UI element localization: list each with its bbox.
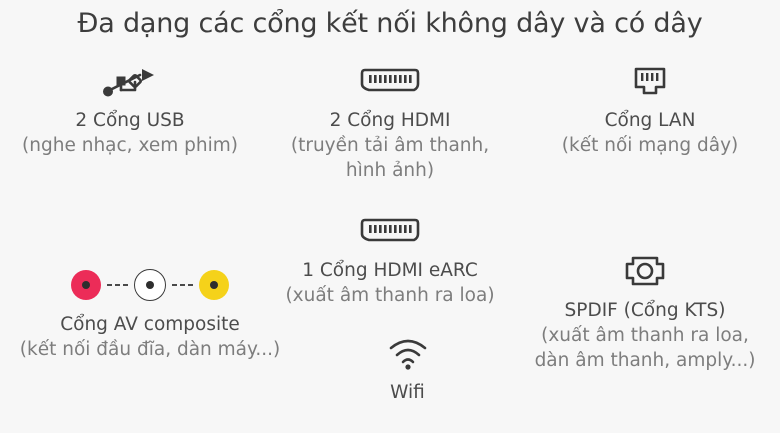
lan-icon [520, 58, 780, 104]
av-jack-yellow [199, 270, 229, 300]
port-label: 2 Cổng HDMI [260, 108, 520, 133]
hdmi-icon [260, 58, 520, 104]
port-item-spdif: SPDIF (Cổng KTS) (xuất âm thanh ra loa, … [510, 248, 780, 373]
port-item-usb: 2 Cổng USB (nghe nhạc, xem phim) [0, 58, 260, 158]
av-composite-icon [0, 262, 300, 308]
spdif-icon [510, 248, 780, 294]
port-label: 2 Cổng USB [0, 108, 260, 133]
port-sub: (truyền tải âm thanh, hình ảnh) [260, 133, 520, 183]
av-dash-separator [107, 284, 128, 287]
port-label: Cổng AV composite [0, 312, 300, 337]
port-item-lan: Cổng LAN (kết nối mạng dây) [520, 58, 780, 158]
usb-icon [0, 58, 260, 104]
hdmi-icon [260, 208, 520, 254]
port-item-wifi: Wifi [300, 330, 515, 405]
port-label: Cổng LAN [520, 108, 780, 133]
av-jack-white [134, 269, 166, 301]
port-item-av-composite: Cổng AV composite (kết nối đầu đĩa, dàn … [0, 262, 300, 362]
port-label: Wifi [300, 380, 515, 405]
port-sub: (kết nối mạng dây) [520, 133, 780, 158]
page-title: Đa dạng các cổng kết nối không dây và có… [0, 8, 780, 39]
av-jack-red [71, 270, 101, 300]
port-item-hdmi: 2 Cổng HDMI (truyền tải âm thanh, hình ả… [260, 58, 520, 183]
av-dash-separator [172, 284, 193, 287]
port-sub: (kết nối đầu đĩa, dàn máy...) [0, 337, 300, 362]
wifi-icon [300, 330, 515, 376]
port-sub: (nghe nhạc, xem phim) [0, 133, 260, 158]
port-sub: (xuất âm thanh ra loa, dàn âm thanh, amp… [510, 323, 780, 373]
port-label: SPDIF (Cổng KTS) [510, 298, 780, 323]
